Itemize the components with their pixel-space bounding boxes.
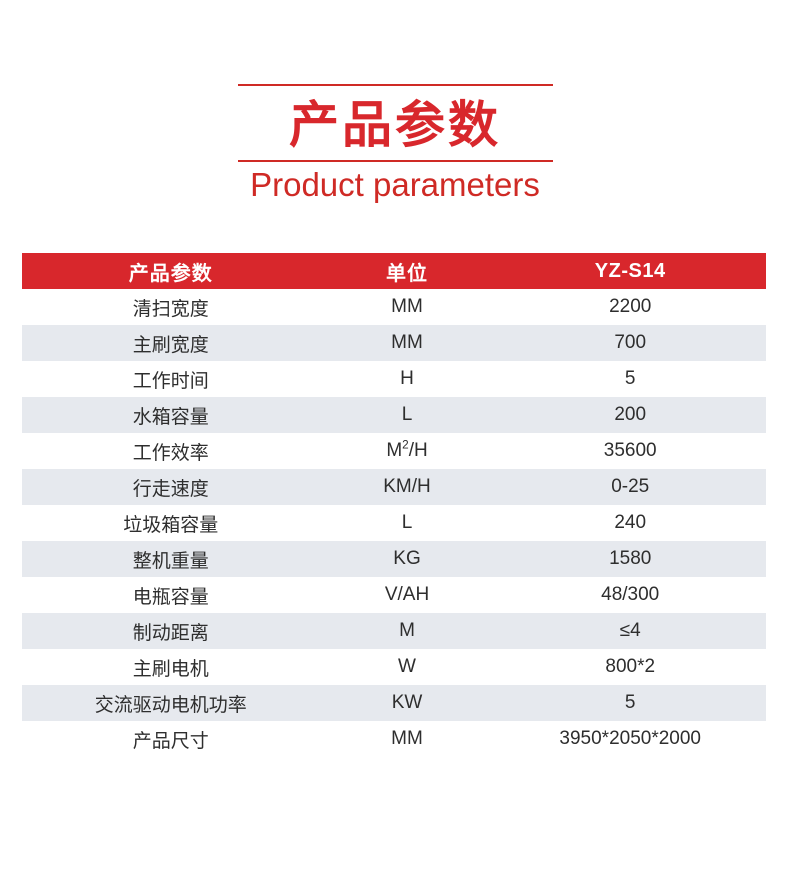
title-divider-top [238, 84, 553, 86]
page-title-cn: 产品参数 [0, 94, 790, 156]
table-row: 整机重量KG1580 [22, 541, 766, 577]
unit-base: M [386, 440, 402, 461]
cell-unit: M [320, 613, 495, 649]
page-header: 产品参数 Product parameters [0, 0, 790, 206]
cell-value: 48/300 [494, 577, 766, 613]
table-row: 电瓶容量V/AH48/300 [22, 577, 766, 613]
spec-table-container: 产品参数 单位 YZ-S14 清扫宽度MM2200主刷宽度MM700工作时间H5… [22, 253, 766, 757]
column-header-model: YZ-S14 [494, 253, 766, 289]
table-row: 清扫宽度MM2200 [22, 289, 766, 325]
cell-value: 240 [494, 505, 766, 541]
cell-parameter-name: 工作时间 [22, 361, 320, 397]
cell-value: 200 [494, 397, 766, 433]
product-parameters-page: 产品参数 Product parameters 产品参数 单位 YZ-S14 清… [0, 0, 790, 873]
unit-tail: /H [409, 440, 428, 461]
table-row: 垃圾箱容量L240 [22, 505, 766, 541]
cell-unit: MM [320, 721, 495, 757]
cell-parameter-name: 行走速度 [22, 469, 320, 505]
cell-parameter-name: 水箱容量 [22, 397, 320, 433]
cell-value: 0-25 [494, 469, 766, 505]
cell-value: ≤4 [494, 613, 766, 649]
cell-parameter-name: 产品尺寸 [22, 721, 320, 757]
page-title-en: Product parameters [0, 162, 790, 206]
cell-parameter-name: 工作效率 [22, 433, 320, 469]
cell-value: 5 [494, 361, 766, 397]
spec-table: 产品参数 单位 YZ-S14 清扫宽度MM2200主刷宽度MM700工作时间H5… [22, 253, 766, 757]
cell-value: 3950*2050*2000 [494, 721, 766, 757]
cell-parameter-name: 主刷宽度 [22, 325, 320, 361]
cell-value: 700 [494, 325, 766, 361]
cell-parameter-name: 主刷电机 [22, 649, 320, 685]
cell-unit: MM [320, 289, 495, 325]
cell-unit: KM/H [320, 469, 495, 505]
cell-value: 1580 [494, 541, 766, 577]
table-row: 制动距离M≤4 [22, 613, 766, 649]
table-row: 水箱容量L200 [22, 397, 766, 433]
cell-unit: MM [320, 325, 495, 361]
table-row: 产品尺寸MM3950*2050*2000 [22, 721, 766, 757]
cell-unit: V/AH [320, 577, 495, 613]
table-row: 工作效率M2/H35600 [22, 433, 766, 469]
cell-unit: M2/H [320, 433, 495, 469]
cell-value: 35600 [494, 433, 766, 469]
table-header-row: 产品参数 单位 YZ-S14 [22, 253, 766, 289]
cell-value: 2200 [494, 289, 766, 325]
cell-value: 800*2 [494, 649, 766, 685]
cell-parameter-name: 电瓶容量 [22, 577, 320, 613]
table-row: 工作时间H5 [22, 361, 766, 397]
cell-parameter-name: 制动距离 [22, 613, 320, 649]
table-row: 行走速度KM/H0-25 [22, 469, 766, 505]
table-row: 交流驱动电机功率KW5 [22, 685, 766, 721]
cell-unit: KW [320, 685, 495, 721]
table-row: 主刷电机W800*2 [22, 649, 766, 685]
cell-parameter-name: 整机重量 [22, 541, 320, 577]
column-header-parameter: 产品参数 [22, 253, 320, 289]
table-row: 主刷宽度MM700 [22, 325, 766, 361]
spec-table-body: 清扫宽度MM2200主刷宽度MM700工作时间H5水箱容量L200工作效率M2/… [22, 289, 766, 757]
cell-unit: H [320, 361, 495, 397]
cell-unit: L [320, 505, 495, 541]
cell-parameter-name: 垃圾箱容量 [22, 505, 320, 541]
spec-table-head: 产品参数 单位 YZ-S14 [22, 253, 766, 289]
column-header-unit: 单位 [320, 253, 495, 289]
cell-unit: W [320, 649, 495, 685]
cell-unit: KG [320, 541, 495, 577]
cell-parameter-name: 清扫宽度 [22, 289, 320, 325]
cell-parameter-name: 交流驱动电机功率 [22, 685, 320, 721]
cell-value: 5 [494, 685, 766, 721]
cell-unit: L [320, 397, 495, 433]
